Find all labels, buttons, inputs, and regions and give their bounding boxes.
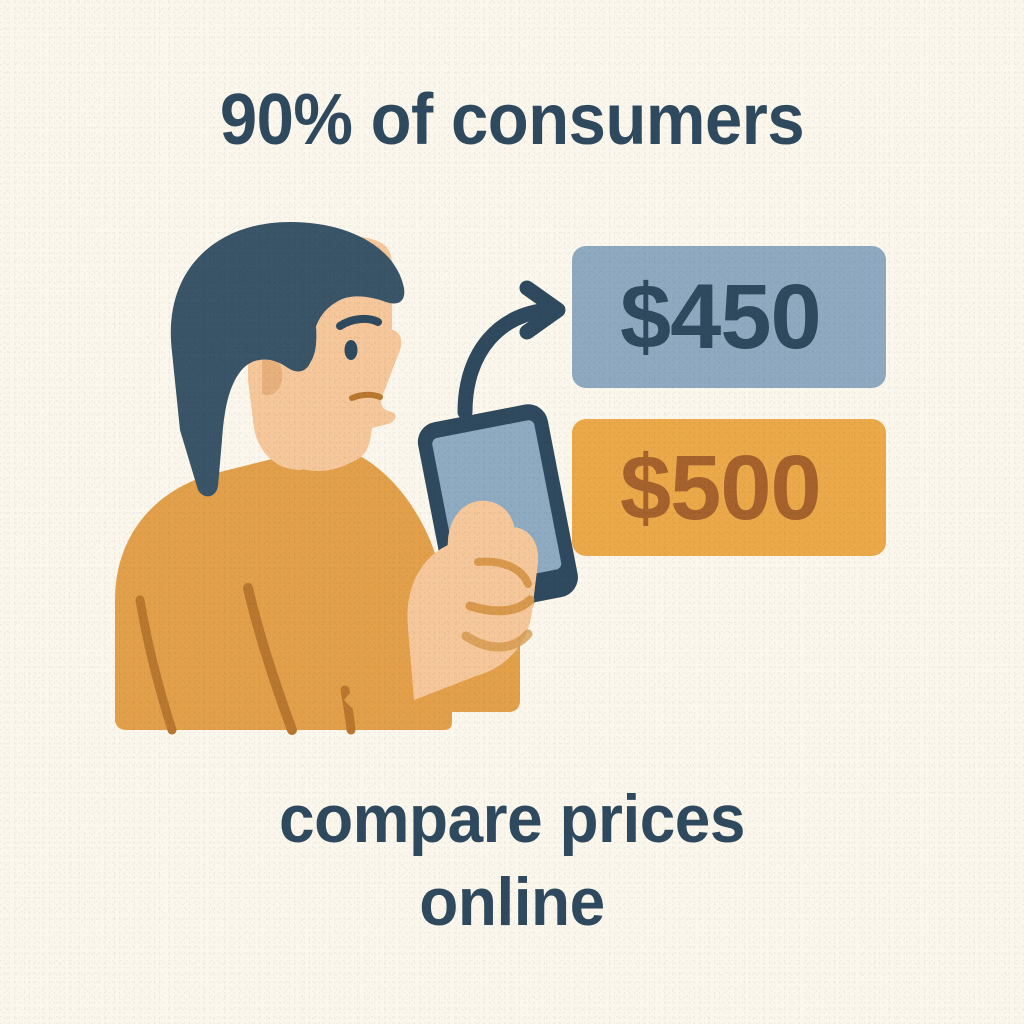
head-group: [171, 222, 405, 496]
headline-text: 90% of consumers: [36, 84, 988, 156]
price-badge-secondary-label: $500: [620, 442, 821, 534]
price-badge-secondary[interactable]: $500: [572, 419, 886, 556]
infographic-canvas: 90% of consumers: [0, 0, 1024, 1024]
price-badge-primary[interactable]: $450: [572, 246, 886, 388]
eye: [345, 340, 358, 360]
caption-line-2: online: [31, 861, 994, 944]
curved-arrow: [465, 288, 558, 412]
caption-block: compare prices online: [31, 778, 994, 944]
price-badge-primary-label: $450: [620, 271, 821, 363]
caption-line-1: compare prices: [31, 778, 994, 861]
mouth: [352, 395, 380, 398]
